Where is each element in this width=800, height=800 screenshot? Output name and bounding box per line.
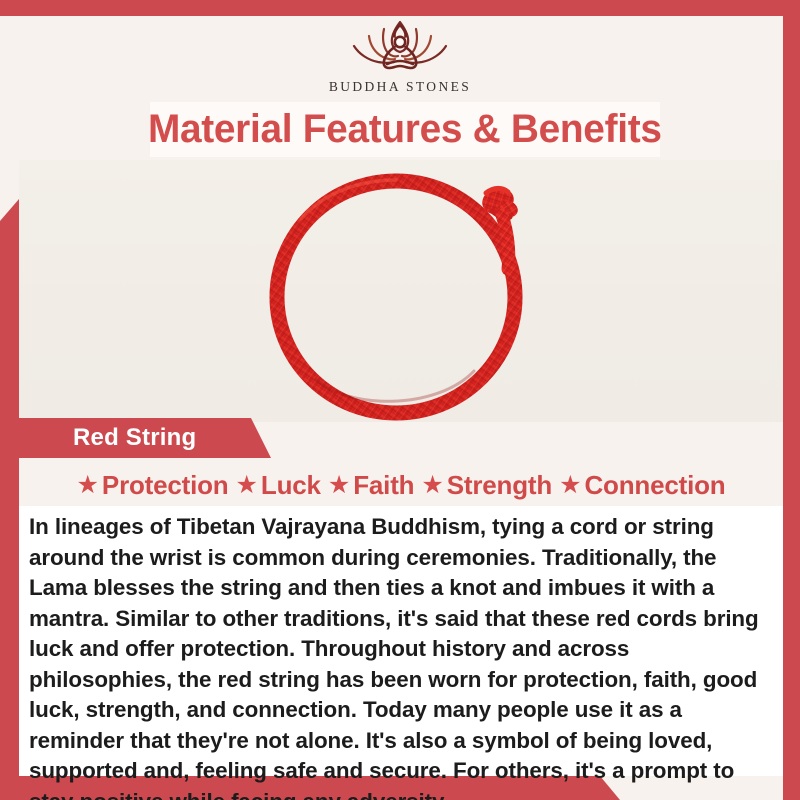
- material-name-ribbon: Red String: [19, 418, 271, 458]
- benefit-item-connection: ★ Connection: [559, 470, 725, 501]
- left-accent-bar: [0, 199, 19, 800]
- benefits-row: ★ Protection ★ Luck ★ Faith ★ Strength ★…: [19, 464, 783, 506]
- benefit-label: Faith: [353, 470, 414, 501]
- benefit-item-protection: ★ Protection: [77, 470, 229, 501]
- lotus-meditation-icon: [338, 16, 462, 78]
- description-panel: In lineages of Tibetan Vajrayana Buddhis…: [19, 506, 783, 776]
- brand-name: BUDDHA STONES: [329, 79, 471, 95]
- description-text: In lineages of Tibetan Vajrayana Buddhis…: [29, 512, 769, 800]
- benefit-item-strength: ★ Strength: [421, 470, 552, 501]
- top-accent-bar: [0, 0, 800, 16]
- benefit-label: Strength: [447, 470, 552, 501]
- infographic-poster: BUDDHA STONES Material Features & Benefi…: [0, 0, 800, 800]
- benefit-label: Luck: [261, 470, 321, 501]
- benefit-label: Protection: [102, 470, 229, 501]
- right-accent-bar: [783, 0, 800, 800]
- benefit-label: Connection: [584, 470, 725, 501]
- star-icon: ★: [559, 473, 581, 498]
- star-icon: ★: [421, 473, 443, 498]
- benefit-item-luck: ★ Luck: [236, 470, 321, 501]
- material-name-label: Red String: [73, 424, 196, 452]
- star-icon: ★: [328, 473, 350, 498]
- page-title: Material Features & Benefits: [148, 107, 662, 152]
- benefit-item-faith: ★ Faith: [328, 470, 415, 501]
- product-image-area: [19, 160, 783, 422]
- star-icon: ★: [77, 473, 99, 498]
- red-string-bracelet-image: [246, 160, 556, 422]
- brand-logo: BUDDHA STONES: [0, 16, 800, 100]
- title-band: Material Features & Benefits: [150, 102, 660, 157]
- star-icon: ★: [236, 473, 258, 498]
